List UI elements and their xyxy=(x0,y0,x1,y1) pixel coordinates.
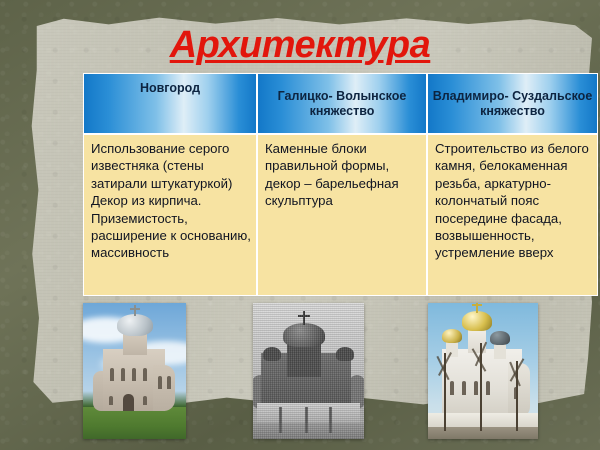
table-header-row: Новгород Галицко- Волынское княжество Вл… xyxy=(83,73,598,134)
novgorod-church-photo xyxy=(83,303,186,439)
cell-galicia-volhynia-description: Каменные блоки правильной формы, декор –… xyxy=(257,134,427,296)
table-body-row: Использование серого известняка (стены з… xyxy=(83,134,598,296)
column-header-galicia-volhynia: Галицко- Волынское княжество xyxy=(257,73,427,134)
cell-novgorod-description: Использование серого известняка (стены з… xyxy=(83,134,257,296)
photo-row xyxy=(83,303,598,441)
galich-church-engraving xyxy=(253,303,364,439)
cell-vladimir-suzdal-description: Строительство из белого камня, белокамен… xyxy=(427,134,598,296)
comparison-table: Новгород Галицко- Волынское княжество Вл… xyxy=(83,73,598,296)
slide: Архитектура Новгород Галицко- Волынское … xyxy=(0,0,600,450)
column-header-vladimir-suzdal: Владимиро- Суздальское княжество xyxy=(427,73,598,134)
vladimir-cathedral-photo xyxy=(428,303,538,439)
page-title: Архитектура xyxy=(0,24,600,67)
column-header-novgorod: Новгород xyxy=(83,73,257,134)
